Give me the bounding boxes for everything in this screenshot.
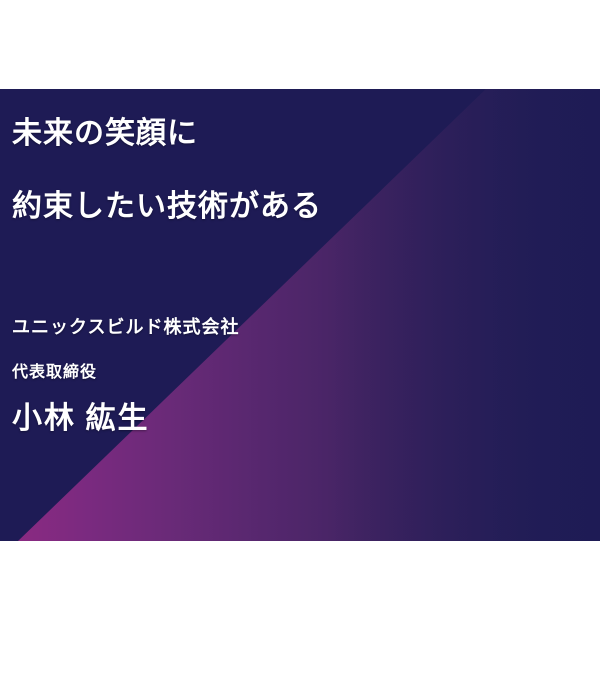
headline-line-2: 約束したい技術がある (12, 190, 322, 223)
banner-content: 未来の笑顔に 約束したい技術がある ユニックスビルド株式会社 代表取締役 小林 … (0, 89, 600, 541)
company-name: ユニックスビルド株式会社 (12, 313, 239, 339)
headline-line-1: 未来の笑顔に (12, 117, 198, 150)
hero-banner: 未来の笑顔に 約束したい技術がある ユニックスビルド株式会社 代表取締役 小林 … (0, 89, 600, 541)
person-name: 小林 紘生 (12, 393, 150, 437)
job-title: 代表取締役 (12, 358, 97, 382)
